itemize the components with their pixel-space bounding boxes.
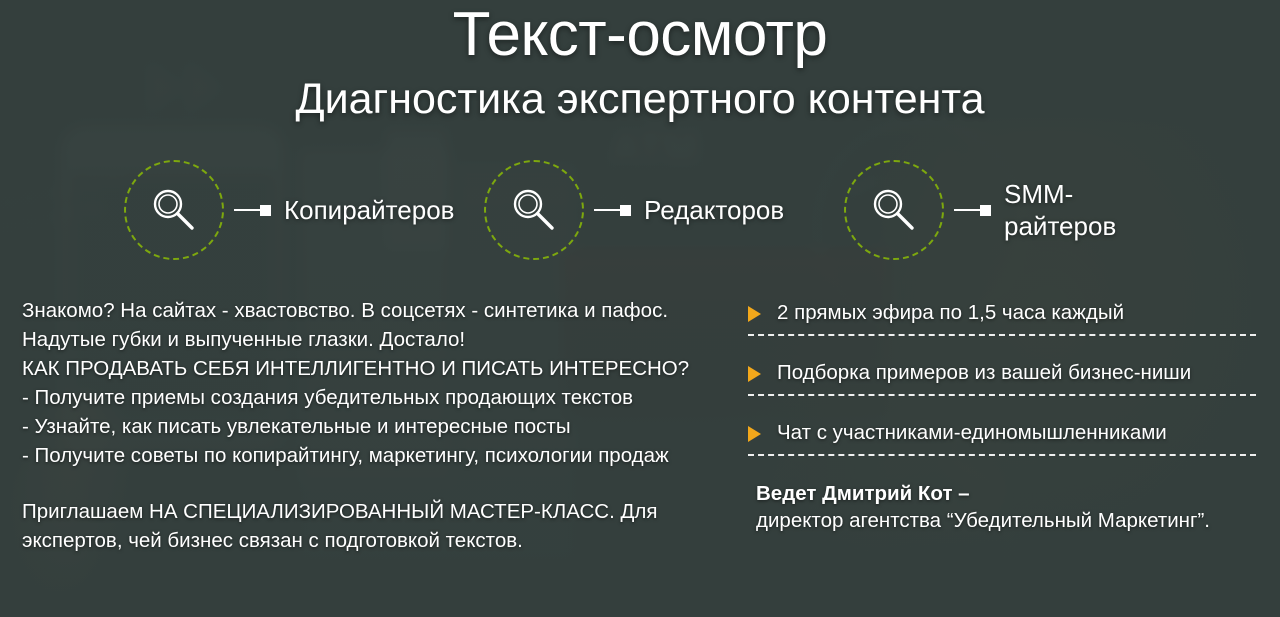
dashed-circle <box>484 160 584 260</box>
connector-square-icon <box>980 205 991 216</box>
offer-bullet-list: - Получите приемы создания убедительных … <box>22 383 722 470</box>
page-subtitle: Диагностика экспертного контента <box>0 76 1280 123</box>
feature-item: 2 прямых эфира по 1,5 часа каждый <box>748 300 1256 336</box>
feature-row: Чат с участниками-единомышленниками <box>748 420 1256 454</box>
audience-item-label: SMM- райтеров <box>1004 178 1116 243</box>
dashed-circle <box>124 160 224 260</box>
presenter-role: директор агентства “Убедительный Маркети… <box>756 507 1256 534</box>
feature-divider <box>748 454 1256 456</box>
page-title: Текст-осмотр <box>0 2 1280 67</box>
triangle-bullet-icon <box>748 426 761 442</box>
connector <box>594 205 631 216</box>
feature-row: Подборка примеров из вашей бизнес-ниши <box>748 360 1256 394</box>
feature-label: Подборка примеров из вашей бизнес-ниши <box>777 360 1191 386</box>
feature-divider <box>748 334 1256 336</box>
audience-item-copywriters: Копирайтеров <box>124 160 454 260</box>
presenter-name: Ведет Дмитрий Кот – <box>756 480 1256 507</box>
feature-item: Подборка примеров из вашей бизнес-ниши <box>748 360 1256 396</box>
audience-item-label: Редакторов <box>644 194 784 227</box>
list-item: - Узнайте, как писать увлекательные и ин… <box>22 412 722 441</box>
feature-label: 2 прямых эфира по 1,5 часа каждый <box>777 300 1124 326</box>
connector-line <box>234 209 260 211</box>
audience-item-smm-writers: SMM- райтеров <box>844 160 1116 260</box>
feature-row: 2 прямых эфира по 1,5 часа каждый <box>748 300 1256 334</box>
connector-square-icon <box>620 205 631 216</box>
presenter-block: Ведет Дмитрий Кот – директор агентства “… <box>748 480 1256 534</box>
left-text-column: Знакомо? На сайтах - хвастовство. В соцс… <box>22 296 722 555</box>
question-heading: КАК ПРОДАВАТЬ СЕБЯ ИНТЕЛЛИГЕНТНО И ПИСАТ… <box>22 354 722 383</box>
page-content: Текст-осмотр Диагностика экспертного кон… <box>0 0 1280 617</box>
intro-paragraph: Знакомо? На сайтах - хвастовство. В соцс… <box>22 296 722 354</box>
right-feature-column: 2 прямых эфира по 1,5 часа каждый Подбор… <box>748 300 1256 534</box>
magnifier-icon <box>147 183 201 237</box>
dashed-circle <box>844 160 944 260</box>
feature-item: Чат с участниками-единомышленниками <box>748 420 1256 456</box>
audience-item-label: Копирайтеров <box>284 194 454 227</box>
outro-paragraph: Приглашаем НА СПЕЦИАЛИЗИРОВАННЫЙ МАСТЕР-… <box>22 497 722 555</box>
connector-line <box>594 209 620 211</box>
magnifier-icon <box>867 183 921 237</box>
offer-block: КАК ПРОДАВАТЬ СЕБЯ ИНТЕЛЛИГЕНТНО И ПИСАТ… <box>22 354 722 470</box>
feature-divider <box>748 394 1256 396</box>
magnifier-icon <box>507 183 561 237</box>
audience-item-editors: Редакторов <box>484 160 784 260</box>
feature-label: Чат с участниками-единомышленниками <box>777 420 1167 446</box>
connector-square-icon <box>260 205 271 216</box>
connector <box>234 205 271 216</box>
connector-line <box>954 209 980 211</box>
triangle-bullet-icon <box>748 366 761 382</box>
triangle-bullet-icon <box>748 306 761 322</box>
list-item: - Получите приемы создания убедительных … <box>22 383 722 412</box>
connector <box>954 205 991 216</box>
audience-row: Копирайтеров Редакторов <box>0 160 1280 275</box>
list-item: - Получите советы по копирайтингу, марке… <box>22 441 722 470</box>
